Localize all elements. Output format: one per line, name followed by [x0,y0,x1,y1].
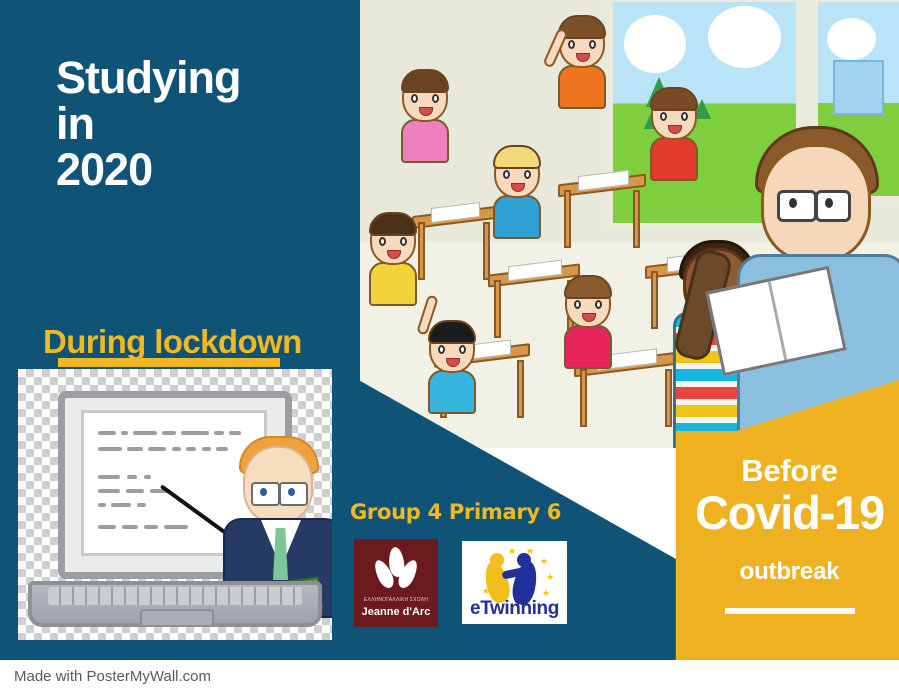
poster-canvas: Studying in 2020 During lockdown [0,0,899,695]
pupil [369,215,417,306]
pupil [493,148,541,239]
pupil [401,72,449,163]
outbreak-label: outbreak [680,558,899,586]
before-label: Before [680,455,899,486]
pupil [650,90,698,181]
covid-label: Covid-19 [680,488,899,538]
classroom-illustration [358,0,899,448]
during-lockdown-heading: During lockdown [43,323,302,361]
title-line-2: in [56,101,336,147]
jeanne-darc-title: Jeanne d'Arc [354,606,438,618]
laptop-trackpad [140,609,214,627]
laptop-keyboard [48,587,302,605]
jeanne-darc-subtitle: ΕΛΛΗΝΟΓΑΛΛΙΚΗ ΣΧΟΛΗ [354,597,438,603]
pupil [564,278,612,369]
etwinning-wordmark: eTwinning [462,598,567,620]
title-line-1: Studying [56,55,336,101]
building-icon [833,60,884,114]
footer-bar: Made with PosterMyWall.com [0,660,899,695]
cloud-icon [624,15,686,72]
laptop-screen [58,391,292,579]
pupil [428,323,476,414]
jeanne-darc-logo: ΕΛΛΗΝΟΓΑΛΛΙΚΗ ΣΧΟΛΗ Jeanne d'Arc [354,539,438,627]
before-covid-block: Before Covid-19 outbreak [680,455,899,665]
during-lockdown-underline [58,358,280,367]
cloud-icon [827,18,876,61]
etwinning-logo: ★ ★ ★ ★ ★ ★ ★ ★ eTwinning [462,541,567,624]
outbreak-underline [725,608,855,614]
cloud-icon [708,6,781,68]
etwinning-blue-head-icon [517,553,531,567]
postermywall-watermark: Made with PosterMyWall.com [14,668,211,685]
title-line-3: 2020 [56,147,336,193]
group-label: Group 4 Primary 6 [350,500,561,524]
page-title: Studying in 2020 [56,55,336,193]
online-learning-illustration [18,369,332,640]
pupil [558,18,606,109]
etwinning-yellow-head-icon [490,553,504,567]
jeanne-darc-mark-icon [373,547,419,593]
